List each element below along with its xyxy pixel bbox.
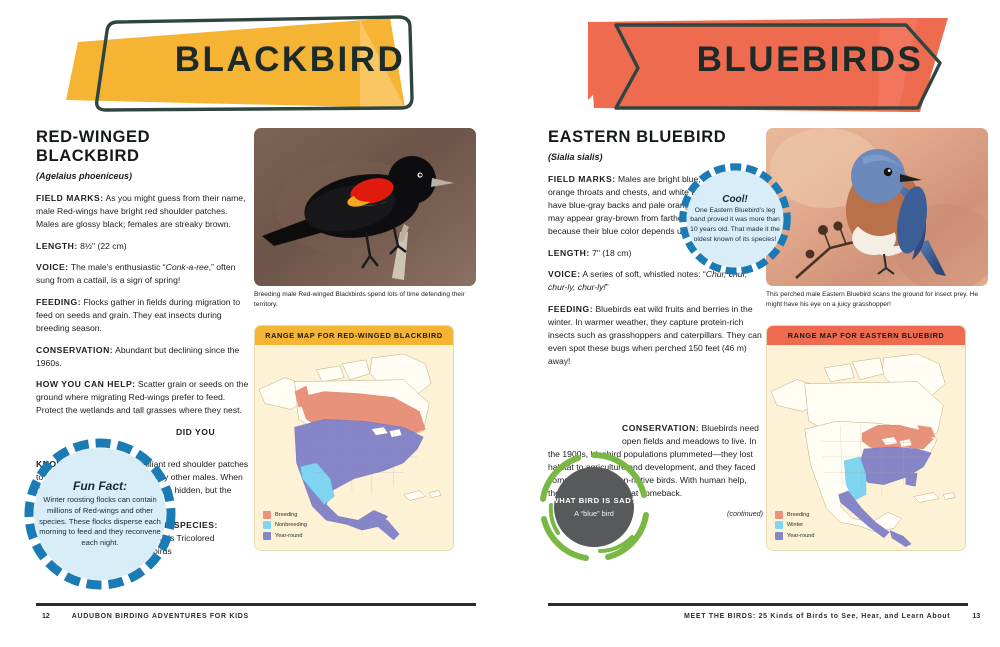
help-label: HOW YOU CAN HELP: [36,379,136,389]
conservation-label: CONSERVATION: [622,423,699,433]
riddle-badge: WHAT BIRD IS SAD? A “blue” bird [536,449,652,565]
latin-name-right: (Sialia sialis) [548,152,763,162]
blackbird-illustration [254,128,476,286]
field-marks-label: FIELD MARKS: [548,174,616,184]
legend-label-yearround: Year-round [275,533,302,539]
legend-label-breeding: Breeding [275,512,297,518]
voice-italic: Conk-a-ree [166,262,209,272]
range-map-title-right: RANGE MAP FOR EASTERN BLUEBIRD [767,326,965,345]
page-number-right: 13 [972,613,980,620]
photo-caption-left: Breeding male Red-winged Blackbirds spen… [254,290,476,309]
legend-label-winter: Winter [787,522,803,528]
conservation-label: CONSERVATION: [36,345,113,355]
field-marks-label: FIELD MARKS: [36,193,104,203]
legend-item: Breeding [263,511,307,519]
voice-label: VOICE: [36,262,69,272]
book-spread: BLACKBIRD BLUEBIRDS RED-WINGED BLACKBIRD… [0,0,1000,647]
fun-fact-content: Fun Fact: Winter roosting flocks can con… [24,438,176,590]
map-legend-left: Breeding Nonbreeding Year-round [263,511,307,543]
riddle-question: WHAT BIRD IS SAD? [551,496,636,506]
voice-left: VOICE: The male's enthusiastic “Conk-a-r… [36,261,251,287]
footer-right: MEET THE BIRDS: 25 Kinds of Birds to See… [684,613,980,620]
legend-label-breeding: Breeding [787,512,809,518]
footer-text-left: AUDUBON BIRDING ADVENTURES FOR KIDS [72,613,249,620]
legend-item: Year-round [775,532,814,540]
conservation-left: CONSERVATION: Abundant but declining sin… [36,344,251,370]
banner-title-right: BLUEBIRDS [580,0,1000,125]
legend-item: Breeding [775,511,814,519]
fun-fact-title: Fun Fact: [73,479,127,493]
voice-pre: The male's enthusiastic “ [69,262,166,272]
cool-fact-title: Cool! [722,194,748,205]
legend-label-nonbreeding: Nonbreeding [275,522,307,528]
legend-swatch-winter [775,521,783,529]
range-map-body-right: Breeding Winter Year-round [767,345,965,550]
red-winged-blackbird-photo [254,128,476,286]
length-label: LENGTH: [36,241,78,251]
length-label: LENGTH: [548,248,590,258]
footer-rule-right [548,603,968,606]
legend-item: Year-round [263,532,307,540]
feeding-left: FEEDING: Flocks gather in fields during … [36,296,251,335]
length-text: 7" (18 cm) [590,248,632,258]
legend-swatch-breeding [263,511,271,519]
species-name-right: EASTERN BLUEBIRD [548,128,763,147]
range-map-card-right: RANGE MAP FOR EASTERN BLUEBIRD [766,325,966,551]
left-side-column: Breeding male Red-winged Blackbirds spen… [254,128,476,551]
legend-label-yearround: Year-round [787,533,814,539]
banner-bluebirds: BLUEBIRDS [580,0,1000,125]
feeding-label: FEEDING: [36,297,81,307]
cool-fact-badge: Cool! One Eastern Bluebird's leg band pr… [679,163,791,275]
riddle-content: WHAT BIRD IS SAD? A “blue” bird [536,449,652,565]
footer-left: 12 AUDUBON BIRDING ADVENTURES FOR KIDS [42,613,249,620]
banner-blackbird: BLACKBIRD [60,0,520,125]
voice-label: VOICE: [548,269,581,279]
legend-item: Winter [775,521,814,529]
length-left: LENGTH: 8½" (22 cm) [36,240,251,253]
footer-text-right: MEET THE BIRDS: 25 Kinds of Birds to See… [684,613,950,620]
how-you-can-help-left: HOW YOU CAN HELP: Scatter grain or seeds… [36,378,251,417]
feeding-right: FEEDING: Bluebirds eat wild fruits and b… [548,303,763,368]
fun-fact-body: Winter roosting flocks can contain milli… [24,495,176,549]
page-number-left: 12 [42,613,50,620]
voice-post: ” [606,282,609,292]
fun-fact-badge: Fun Fact: Winter roosting flocks can con… [24,438,176,590]
legend-swatch-yearround [775,532,783,540]
legend-item: Nonbreeding [263,521,307,529]
banner-title-left: BLACKBIRD [60,0,520,125]
species-name-left: RED-WINGED BLACKBIRD [36,128,251,166]
footer-rule-left [36,603,476,606]
latin-name-left: (Agelaius phoeniceus) [36,171,251,181]
right-side-column: This perched male Eastern Bluebird scans… [766,128,988,551]
feeding-label: FEEDING: [548,304,593,314]
range-map-card-left: RANGE MAP FOR RED-WINGED BLACKBIRD [254,325,454,551]
field-marks-left: FIELD MARKS: As you might guess from the… [36,192,251,231]
range-map-title-left: RANGE MAP FOR RED-WINGED BLACKBIRD [255,326,453,345]
legend-swatch-yearround [263,532,271,540]
eastern-bluebird-photo [766,128,988,286]
cool-fact-body: One Eastern Bluebird's leg band proved i… [679,206,791,244]
cool-fact-content: Cool! One Eastern Bluebird's leg band pr… [679,163,791,275]
range-map-body-left: Breeding Nonbreeding Year-round [255,345,453,550]
length-text: 8½" (22 cm) [78,241,127,251]
map-legend-right: Breeding Winter Year-round [775,511,814,543]
legend-swatch-nonbreeding [263,521,271,529]
riddle-answer: A “blue” bird [574,509,614,518]
bluebird-illustration [766,128,988,286]
legend-swatch-breeding [775,511,783,519]
photo-caption-right: This perched male Eastern Bluebird scans… [766,290,988,309]
